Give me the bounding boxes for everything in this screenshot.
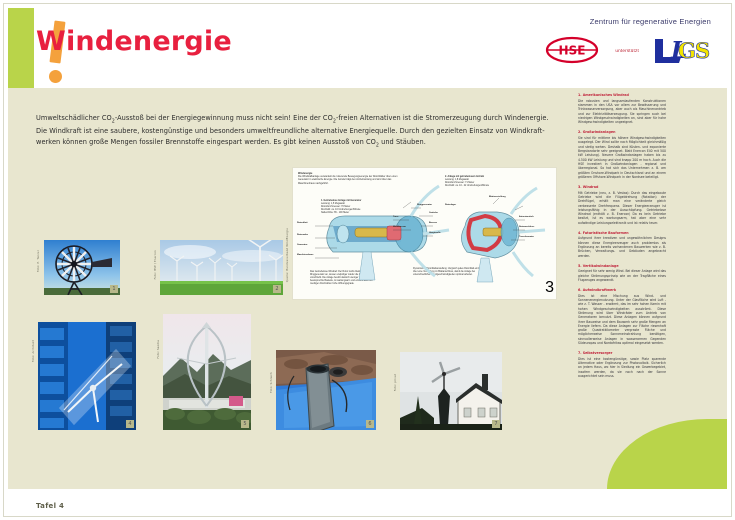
diagram-label-hauptwelle: Hauptwelle bbox=[429, 232, 441, 235]
diagram-label-getriebe: Getriebe bbox=[429, 212, 438, 215]
page-title: Windenergie bbox=[36, 28, 232, 55]
lgs-logo: L G S bbox=[651, 35, 713, 65]
section-6-heading: 6. Aufwindkraftwerk bbox=[578, 288, 666, 293]
photo-number-badge: 5 bbox=[241, 420, 249, 428]
photo-3-nacelle-diagram: Windenergie Die Windkraftanlage verwande… bbox=[292, 167, 557, 300]
section-5: 5. Vertikalwindanlage Geeignet für sehr … bbox=[578, 264, 666, 283]
diagram-label-transformator: Transformator bbox=[519, 236, 534, 239]
section-7-text: Dies ist eine kostengünstige, sowie Plat… bbox=[578, 357, 666, 379]
photo-number-badge: 1 bbox=[110, 285, 118, 293]
photo-number-badge: 6 bbox=[366, 420, 374, 428]
diagram-label-blattverstellung: Blattverstellung bbox=[489, 196, 506, 199]
section-5-text: Geeignet für sehr wenig Wind. Bei dieser… bbox=[578, 269, 666, 282]
intro-line-1: Umweltschädlicher CO2-Ausstoß bei der En… bbox=[36, 113, 552, 126]
section-3: 3. Windrad Mit Getriebe (neu, z. B. Vest… bbox=[578, 185, 666, 225]
photo-5-credit: Foto: Sandia bbox=[157, 340, 160, 359]
photo-6-updraft-tower: 6 bbox=[276, 350, 376, 430]
header-kicker: Zentrum für regenerative Energien bbox=[487, 17, 717, 26]
exclamation-mark-dot-icon bbox=[49, 70, 62, 83]
photo-7-credit: Foto: privat bbox=[394, 374, 397, 391]
wind-farm-image bbox=[160, 240, 283, 295]
footer-band bbox=[8, 489, 727, 512]
support-label: unterstützt bbox=[615, 48, 639, 53]
section-1-heading: 1. Amerikanisches Windrad bbox=[578, 93, 666, 98]
svg-text:G: G bbox=[678, 38, 696, 63]
left-margin-strip bbox=[8, 88, 34, 489]
intro-line-3: werken können große Mengen fossiler Bren… bbox=[36, 137, 552, 150]
diagram-label-maschinenhaus: Maschinenhaus bbox=[297, 254, 313, 257]
intro-line-2: Die Windkraft ist eine saubere, kostengü… bbox=[36, 126, 552, 137]
hse-logo-icon: HSE bbox=[541, 35, 603, 65]
section-2: 2. Großwindanlagen Sie sind für mittlere… bbox=[578, 130, 666, 179]
section-7-heading: 7. Selbstversorger bbox=[578, 351, 666, 356]
section-1-text: Die robusten und langsamlaufenden Konstr… bbox=[578, 99, 666, 125]
section-6: 6. Aufwindkraftwerk Dies ist eine Mischu… bbox=[578, 288, 666, 346]
section-3-text: Mit Getriebe (neu, z. B. Vestas): Durch … bbox=[578, 191, 666, 226]
section-2-text: Sie sind für mittlere bis höhere Windges… bbox=[578, 136, 666, 179]
section-7: 7. Selbstversorger Dies ist eine kosteng… bbox=[578, 351, 666, 378]
section-5-heading: 5. Vertikalwindanlage bbox=[578, 264, 666, 269]
section-3-heading: 3. Windrad bbox=[578, 185, 666, 190]
photo-number-badge: 4 bbox=[126, 420, 134, 428]
green-accent-bar bbox=[8, 8, 34, 88]
svg-text:HSE: HSE bbox=[559, 44, 586, 58]
svg-text:S: S bbox=[695, 38, 710, 63]
diagram-label-rotorblatt: Rotorblatt bbox=[297, 222, 307, 225]
photo-4-credit: Foto: Architekt bbox=[32, 340, 35, 362]
house-turbine-image bbox=[400, 352, 502, 430]
section-4: 4. Futuristische Bauformen Aufgrund ihre… bbox=[578, 231, 666, 258]
section-2-heading: 2. Großwindanlagen bbox=[578, 130, 666, 135]
diagram-label-bremse: Bremse bbox=[429, 222, 437, 225]
lgs-logo-icon: L G S bbox=[651, 35, 713, 65]
photo-4-futuristic-building: 4 bbox=[38, 322, 136, 430]
photo-1-credit: Foto: E. Tenzer bbox=[37, 250, 40, 272]
diagram-label-rotornabe: Rotornabe bbox=[297, 234, 308, 237]
intro-paragraph: Umweltschädlicher CO2-Ausstoß bei der En… bbox=[36, 113, 552, 150]
section-1: 1. Amerikanisches Windrad Die robusten u… bbox=[578, 93, 666, 125]
section-4-text: Aufgrund ihrer kreativen und ungewöhnlic… bbox=[578, 236, 666, 258]
diagram-label-azimutantrieb: Azimutantrieb bbox=[519, 216, 534, 219]
header-branding: Zentrum für regenerative Energien HSE un… bbox=[487, 17, 717, 65]
diagram-label-netzanschluss: Netzanschluss bbox=[519, 226, 534, 229]
photo-5-vertical-turbine: 5 bbox=[163, 314, 251, 430]
diagram-label-ringgenerator: Ringgenerator bbox=[417, 204, 432, 207]
photo-1-american-windmill: 1 bbox=[44, 240, 120, 295]
diagram-label-generator: Generator bbox=[297, 244, 307, 247]
photo-number-badge: 3 bbox=[545, 279, 554, 297]
article-column: 1. Amerikanisches Windrad Die robusten u… bbox=[578, 93, 666, 384]
hse-logo: HSE bbox=[541, 35, 603, 65]
footer-plate-label: Tafel 4 bbox=[36, 502, 64, 510]
american-windmill-image bbox=[44, 240, 120, 295]
diagram-label-rotorlager: Rotorlager bbox=[445, 204, 456, 207]
logo-row: HSE unterstützt L G S bbox=[487, 35, 717, 65]
darrieus-turbine-image bbox=[163, 314, 251, 430]
diagram-label-turm: Turm bbox=[393, 216, 398, 219]
section-6-text: Dies ist eine Mischung aus Wind- und Son… bbox=[578, 294, 666, 346]
photo-6-credit: Foto: Schlaich bbox=[270, 372, 273, 393]
futuristic-building-image bbox=[38, 322, 136, 430]
diagram-label-windmesser: Windmesser bbox=[393, 226, 406, 229]
photo-number-badge: 2 bbox=[273, 285, 281, 293]
page-title-wrapper: Windenergie bbox=[36, 28, 232, 55]
poster-page: Windenergie Zentrum für regenerative Ene… bbox=[0, 0, 735, 520]
photo-number-badge: 7 bbox=[492, 420, 500, 428]
section-4-heading: 4. Futuristische Bauformen bbox=[578, 231, 666, 236]
photo-2-wind-farm: 2 bbox=[160, 240, 283, 295]
photo-7-house-turbine: 7 bbox=[400, 352, 502, 430]
updraft-tower-image bbox=[276, 350, 376, 430]
photo-3-credit: Quelle: Bundesverband WindEnergie bbox=[286, 228, 289, 282]
nacelle-cutaway-graphic bbox=[293, 168, 556, 299]
photo-2-credit: Foto: HSE / Enercon bbox=[154, 250, 157, 279]
